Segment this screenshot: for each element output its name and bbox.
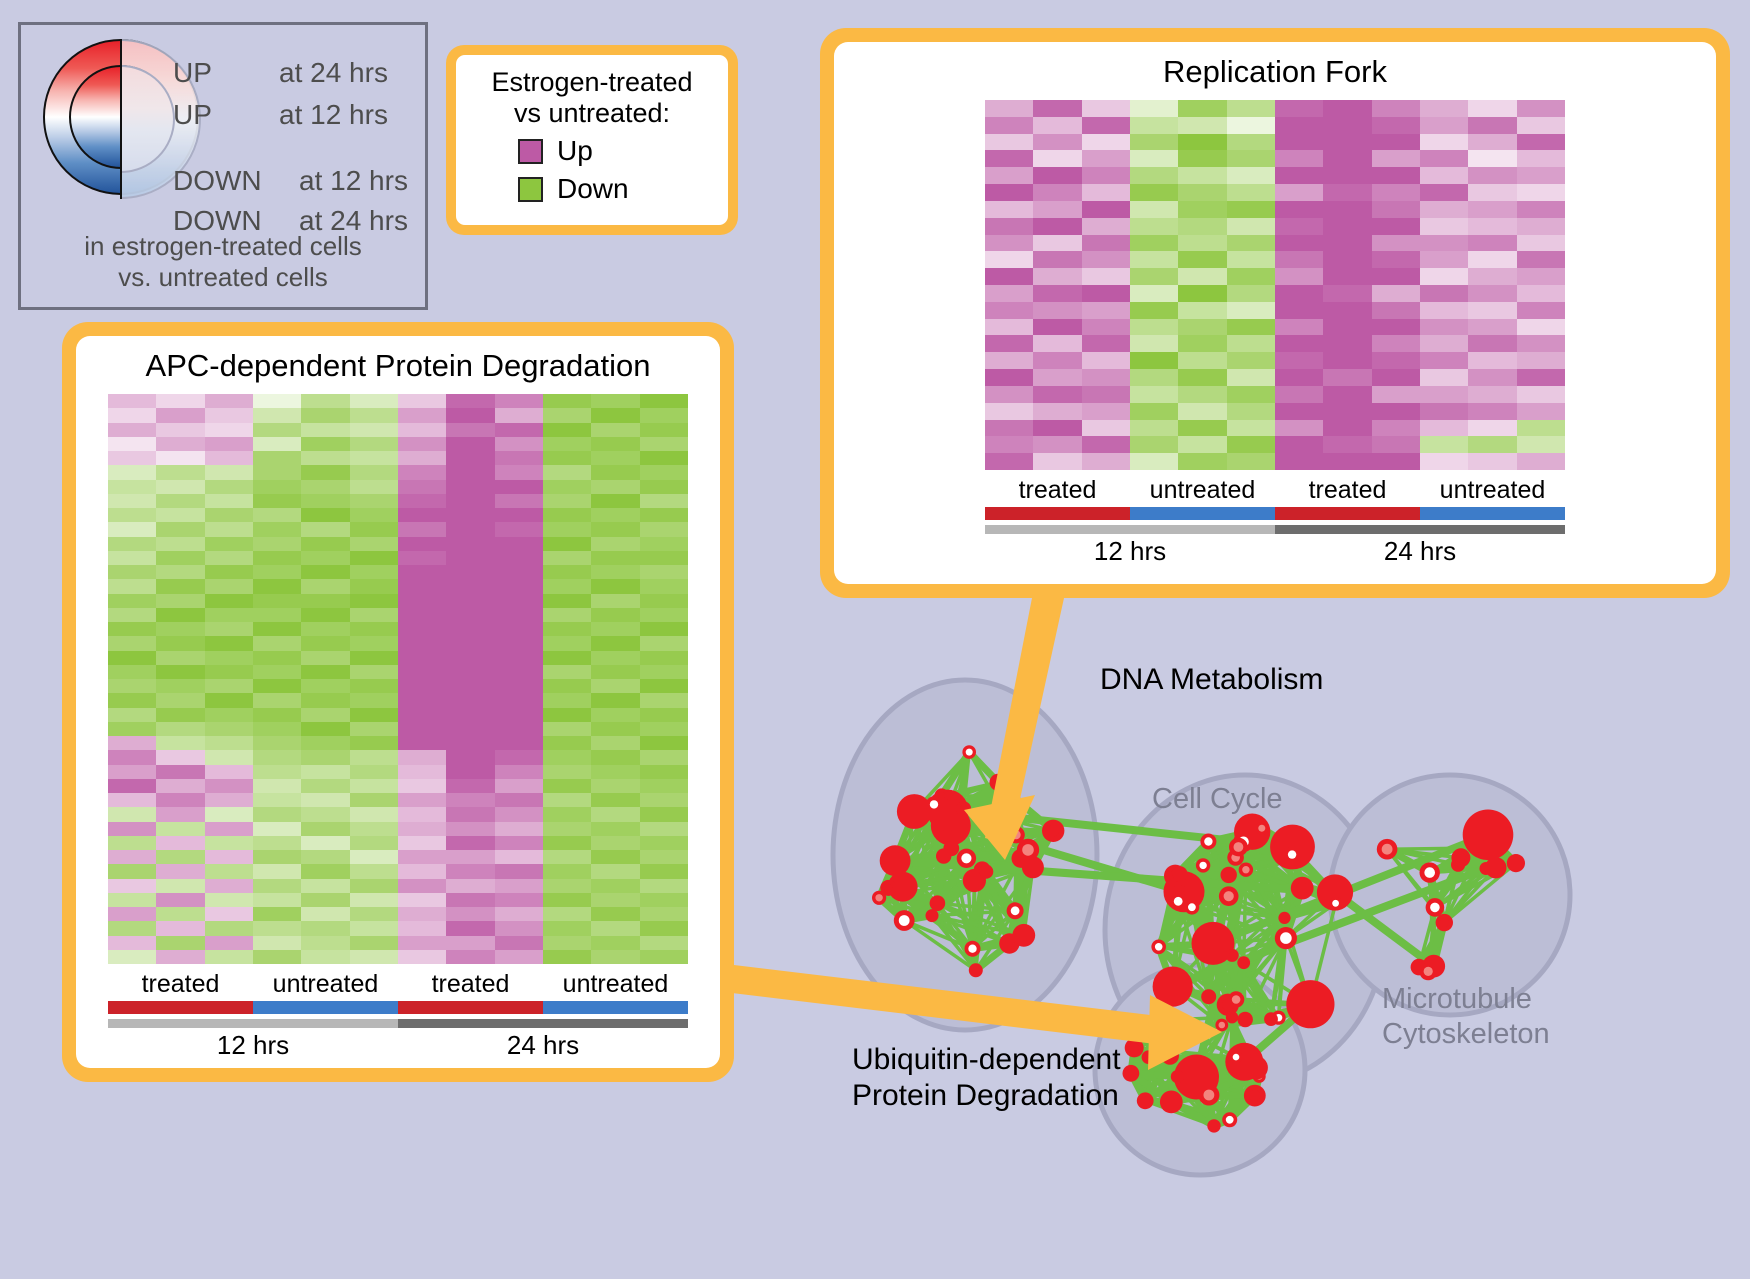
network-node-core [1219,1022,1226,1029]
network-node-core [960,805,968,813]
network-node-core [1047,825,1059,837]
network-node [1161,1047,1179,1065]
colorwheel-direction-up-12: UP [173,99,212,131]
network-node-core [1188,903,1196,911]
network-node-core [1242,866,1249,873]
panel-replication-fork: Replication Fork treated untreated treat… [820,28,1730,598]
treatment-bar-segment-treated-12-apc [108,1001,253,1014]
colorwheel-legend: UP at 24 hrs UP at 12 hrs DOWN at 12 hrs… [18,22,428,310]
network-node [1221,867,1237,883]
network-node-core [1234,842,1244,852]
time-bar-segment-12hrs [985,525,1275,534]
network-node [969,963,983,977]
colorwheel-time-down-12: at 12 hrs [299,165,408,197]
heatmap-apc-protein-degradation [108,394,688,964]
network-node-core [1229,952,1236,959]
network-node-core [899,915,910,926]
network-node [1153,967,1193,1007]
cluster-label-cell-cycle: Cell Cycle [1152,783,1283,816]
cluster-label-dna-metabolism: DNA Metabolism [1100,663,1323,697]
network-node-core [1424,967,1433,976]
network-node-core [1332,900,1339,907]
axis-label-treated-24: treated [1275,476,1420,505]
treatment-bar-segment-treated-24-apc [398,1001,543,1014]
network-node-core [1204,1090,1215,1101]
updown-legend-inner: Estrogen-treated vs untreated: Up Down [456,55,728,225]
axis-group-labels-replication: treated untreated treated untreated [985,476,1565,505]
panel-title-replication-fork: Replication Fork [1163,54,1387,90]
network-node [1507,854,1525,872]
network-node-core [1004,938,1015,949]
network-node-core [961,853,971,863]
network-node [926,909,939,922]
panel-replication-fork-inner: Replication Fork treated untreated treat… [834,42,1716,584]
network-node [930,895,946,911]
colorwheel-divider [120,39,122,199]
axis-apc: treated untreated treated untreated 12 h… [108,970,688,1061]
axis-label-untreated-12-apc: untreated [253,970,398,999]
axis-label-untreated-24-apc: untreated [543,970,688,999]
network-node-core [875,894,882,901]
treatment-bar-segment-untreated-12-apc [253,1001,398,1014]
network-node [1160,1091,1183,1114]
treatment-bar-segment-untreated-24-apc [543,1001,688,1014]
network-node [880,845,911,876]
colorwheel-direction-down-12: DOWN [173,165,262,197]
treatment-bar-segment-treated-12 [985,507,1130,520]
network-graph [790,600,1750,1279]
colorwheel-direction-up-24: UP [173,57,212,89]
network-node-core [1296,882,1308,894]
network-node-core [1204,837,1212,845]
axis-replication-fork: treated untreated treated untreated 12 h… [985,476,1565,567]
network-node [1172,866,1187,881]
time-label-24hrs: 24 hrs [1275,536,1565,567]
network-node-core [1288,850,1296,858]
network-node [1201,989,1216,1004]
network-node-core [1424,867,1435,878]
network-node [1286,980,1334,1028]
network-node-core [1155,943,1163,951]
network-node-core [1229,1014,1235,1020]
axis-time-bar-apc [108,1019,688,1028]
network-node-core [1233,1054,1240,1061]
network-node [1472,840,1488,856]
legend-label-down: Down [557,173,629,205]
network-node-core [1022,844,1034,856]
network-node-core [1226,1116,1234,1124]
network-node-core [1129,1043,1139,1053]
network-node [936,848,951,863]
network-node [897,794,932,829]
axis-treatment-bar-replication [985,507,1565,520]
network-node [1207,1119,1220,1132]
axis-label-treated-12-apc: treated [108,970,253,999]
network-node-core [968,945,976,953]
network-node-core [1456,853,1466,863]
legend-label-up: Up [557,135,593,167]
network-node-core [1174,897,1183,906]
network-node-core [1141,1096,1150,1105]
treatment-bar-segment-untreated-12 [1130,507,1275,520]
time-label-12hrs: 12 hrs [985,536,1275,567]
network-node-core [1158,1014,1170,1026]
cluster-label-ubiquitin: Ubiquitin-dependent Protein Degradation [852,1042,1121,1114]
network-node [1264,1012,1278,1026]
network-node [1244,1056,1268,1080]
network-node-core [1012,830,1021,839]
time-bar-segment-12hrs-apc [108,1019,398,1028]
treatment-bar-segment-untreated-24 [1420,507,1565,520]
axis-time-bar-replication [985,525,1565,534]
axis-label-treated-12: treated [985,476,1130,505]
axis-time-labels-replication: 12 hrs 24 hrs [985,536,1565,567]
network-node-core [1199,862,1206,869]
colorwheel-caption: in estrogen-treated cells vs. untreated … [21,231,425,292]
network-node-core [1224,891,1234,901]
axis-time-labels-apc: 12 hrs 24 hrs [108,1030,688,1061]
network-node [1278,912,1290,924]
network-node-core [1280,932,1292,944]
colorwheel-time-up-12: at 12 hrs [279,99,388,131]
network-node [1142,1050,1156,1064]
network-node [1485,857,1506,878]
axis-label-untreated-12: untreated [1130,476,1275,505]
network-node [1463,810,1514,861]
panel-title-apc: APC-dependent Protein Degradation [146,348,651,384]
colorwheel-time-up-24: at 24 hrs [279,57,388,89]
time-bar-segment-24hrs-apc [398,1019,688,1028]
network-node-core [884,884,892,892]
network-node [979,865,993,879]
updown-legend-title: Estrogen-treated vs untreated: [470,67,714,129]
network-node-core [1011,906,1020,915]
network-node-core [1258,825,1265,832]
network-node [1171,1070,1184,1083]
axis-treatment-bar-apc [108,1001,688,1014]
network-node-core [1009,793,1017,801]
panel-apc-inner: APC-dependent Protein Degradation treate… [76,336,720,1068]
panel-apc-protein-degradation: APC-dependent Protein Degradation treate… [62,322,734,1082]
axis-label-treated-24-apc: treated [398,970,543,999]
network-node-core [1440,918,1449,927]
network-node-core [966,749,973,756]
legend-row-up: Up [518,135,714,167]
network-node-core [1249,1090,1260,1101]
network-node [1238,1012,1253,1027]
network-node-core [1127,1069,1136,1078]
cluster-label-microtubule: Microtubule Cytoskeleton [1382,982,1550,1052]
time-bar-segment-24hrs [1275,525,1565,534]
down-color-swatch [518,177,543,202]
network-node-core [1430,903,1440,913]
axis-label-untreated-24: untreated [1420,476,1565,505]
time-label-12hrs-apc: 12 hrs [108,1030,398,1061]
network-node-core [930,800,938,808]
heatmap-replication-fork [985,100,1565,470]
network-node [1022,856,1044,878]
network-node [990,774,1007,791]
axis-group-labels-apc: treated untreated treated untreated [108,970,688,999]
legend-row-down: Down [518,173,714,205]
network-node [1237,956,1250,969]
updown-legend-card: Estrogen-treated vs untreated: Up Down [446,45,738,235]
time-label-24hrs-apc: 24 hrs [398,1030,688,1061]
network-node-core [1382,844,1393,855]
up-color-swatch [518,139,543,164]
treatment-bar-segment-treated-24 [1275,507,1420,520]
figure-canvas: UP at 24 hrs UP at 12 hrs DOWN at 12 hrs… [0,0,1750,1279]
network-node-core [1232,995,1241,1004]
